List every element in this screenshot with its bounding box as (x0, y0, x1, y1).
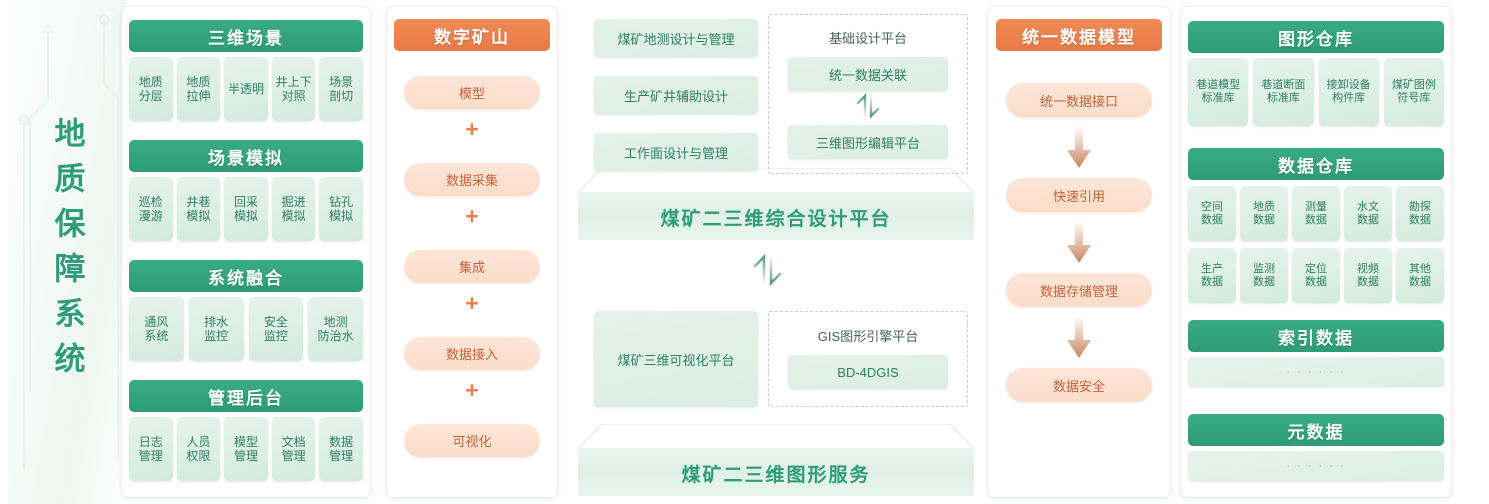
mine-item-0[interactable]: 模型 (404, 76, 540, 109)
tile-line: 巡检 (139, 195, 163, 209)
group-tiles-3: 通风 系统 排水 监控 安全 监控 地测 防治水 (129, 297, 363, 361)
tile-line: 拉伸 (186, 89, 210, 103)
group-tiles-2: 巡检 漫游 井巷 模拟 回采 模拟 掘进 模拟 钻孔 模拟 (129, 177, 363, 241)
tile-line: 视频 (1357, 263, 1379, 276)
tile[interactable]: 定位 数据 (1292, 248, 1340, 303)
tile-line: 井巷 (186, 195, 210, 209)
tile[interactable]: 地测 防治水 (308, 297, 363, 361)
tile-line: 井上下 (276, 75, 312, 89)
tile-line: 数据 (1253, 276, 1275, 289)
system-title-panel: 地质保障系统 (8, 0, 126, 504)
tile[interactable]: 文档 管理 (272, 417, 316, 481)
tile[interactable]: 水文 数据 (1344, 186, 1392, 241)
tile-line: 构件库 (1332, 92, 1365, 105)
tile-line: 煤矿图例 (1392, 79, 1436, 92)
tile-line: 其他 (1409, 263, 1431, 276)
plus-operator: + (404, 292, 540, 315)
tile-line: 空间 (1201, 201, 1223, 214)
tile[interactable]: 井上下 对照 (272, 57, 316, 121)
tile-line: 人员 (186, 435, 210, 449)
tile-line: 监控 (204, 329, 228, 343)
gis-platform-label: GIS图形引擎平台 (768, 326, 968, 345)
model-item-0[interactable]: 统一数据接口 (1006, 83, 1152, 117)
tile[interactable]: 监测 数据 (1240, 248, 1288, 303)
system-title-text: 地质保障系统 (52, 117, 83, 387)
down-arrow-icon (1065, 126, 1093, 170)
group-tiles-1: 地质 分层 地质 拉伸 半透明 井上下 对照 场景 剖切 (129, 57, 363, 121)
tile-line: 数据 (1201, 214, 1223, 227)
tile-line: 数据 (1357, 276, 1379, 289)
mine-item-4[interactable]: 可视化 (404, 424, 540, 457)
model-item-1[interactable]: 快速引用 (1006, 178, 1152, 212)
tile[interactable]: 测量 数据 (1292, 186, 1340, 241)
tile-line: 回采 (234, 195, 258, 209)
tile-line: 数据 (1409, 276, 1431, 289)
tile-line: 监控 (264, 329, 288, 343)
tile-line: 防治水 (318, 329, 354, 343)
tile-line: 掘进 (282, 195, 306, 209)
bidirectional-arrow-icon (852, 92, 884, 120)
tile-line: 地质 (186, 75, 210, 89)
tile-line: 水文 (1357, 201, 1379, 214)
repo-header-metadata[interactable]: 元数据 (1188, 414, 1444, 446)
tile-line: 生产 (1201, 263, 1223, 276)
tile-line: 钻孔 (329, 195, 353, 209)
tile[interactable]: 数据 管理 (319, 417, 363, 481)
tile[interactable]: 接卸设备 构件库 (1319, 58, 1379, 126)
tile-line: 模拟 (234, 209, 258, 223)
tile-line: 模拟 (186, 209, 210, 223)
tile[interactable]: 回采 模拟 (224, 177, 268, 241)
bidirectional-arrow-icon (748, 252, 788, 288)
band-integrated-design-platform[interactable]: 煤矿二三维综合设计平台 (578, 194, 974, 240)
app-box-0[interactable]: 煤矿地测设计与管理 (594, 19, 758, 57)
digital-mine-header[interactable]: 数字矿山 (394, 19, 550, 51)
mine-item-1[interactable]: 数据采集 (404, 163, 540, 196)
tile-line: 勘探 (1409, 201, 1431, 214)
group-header-4[interactable]: 管理后台 (129, 380, 363, 412)
group-header-3[interactable]: 系统融合 (129, 260, 363, 292)
tile-line: 数据 (1305, 276, 1327, 289)
tile-line: 符号库 (1397, 92, 1430, 105)
tile-line: 半透明 (228, 82, 264, 96)
tile-line: 管理 (282, 449, 306, 463)
plus-operator: + (404, 118, 540, 141)
repo-tiles-graphics: 巷道模型 标准库 巷道断面 标准库 接卸设备 构件库 煤矿图例 符号库 (1188, 58, 1444, 126)
tile-line: 场景 (329, 75, 353, 89)
tile[interactable]: 场景 剖切 (319, 57, 363, 121)
tile-line: 数据 (1253, 214, 1275, 227)
tile[interactable]: 生产 数据 (1188, 248, 1236, 303)
tile-line: 分层 (139, 89, 163, 103)
base-platform-item-1[interactable]: 三维图形编辑平台 (788, 125, 948, 159)
down-arrow-icon (1065, 221, 1093, 265)
tile-line: 模型 (234, 435, 258, 449)
tile[interactable]: 其他 数据 (1396, 248, 1444, 303)
plus-operator: + (404, 379, 540, 402)
tile[interactable]: 安全 监控 (249, 297, 304, 361)
architecture-diagram: 地质保障系统 三维场景 地质 分层 地质 拉伸 半透明 井上下 对照 场景 剖切… (0, 0, 1489, 504)
tile[interactable]: 排水 监控 (189, 297, 244, 361)
tile-line: 管理 (234, 449, 258, 463)
gis-engine-item[interactable]: BD-4DGIS (788, 355, 948, 389)
band-graphics-service[interactable]: 煤矿二三维图形服务 (578, 450, 974, 496)
tile[interactable]: 巡检 漫游 (129, 177, 173, 241)
tile-line: 漫游 (139, 209, 163, 223)
tile-line: 地测 (324, 315, 348, 329)
tile-line: 巷道断面 (1261, 79, 1305, 92)
base-platform-label: 基础设计平台 (768, 28, 968, 47)
plus-operator: + (404, 205, 540, 228)
app-box-2[interactable]: 工作面设计与管理 (594, 133, 758, 171)
tile[interactable]: 人员 权限 (177, 417, 221, 481)
tile-line: 文档 (282, 435, 306, 449)
tile[interactable]: 空间 数据 (1188, 186, 1236, 241)
group-header-2[interactable]: 场景模拟 (129, 140, 363, 172)
mine-item-2[interactable]: 集成 (404, 250, 540, 283)
tile[interactable]: 钻孔 模拟 (319, 177, 363, 241)
tile-line: 监测 (1253, 263, 1275, 276)
tile-line: 测量 (1305, 201, 1327, 214)
tile[interactable]: 视频 数据 (1344, 248, 1392, 303)
repo-header-index[interactable]: 索引数据 (1188, 320, 1444, 352)
tile-line: 定位 (1305, 263, 1327, 276)
tile-line: 日志 (139, 435, 163, 449)
mine-item-3[interactable]: 数据接入 (404, 337, 540, 370)
tile[interactable]: 地质 数据 (1240, 186, 1288, 241)
tile[interactable]: 日志 管理 (129, 417, 173, 481)
tile-line: 安全 (264, 315, 288, 329)
tile[interactable]: 地质 分层 (129, 57, 173, 121)
tile[interactable]: 井巷 模拟 (177, 177, 221, 241)
tile[interactable]: 巷道模型 标准库 (1188, 58, 1248, 126)
tile-line: 地质 (139, 75, 163, 89)
tile[interactable]: 煤矿图例 符号库 (1384, 58, 1444, 126)
repo-dots-index[interactable]: · · · · · · (1188, 357, 1444, 387)
tile[interactable]: 通风 系统 (129, 297, 184, 361)
trapezoid-bottom-outline (578, 424, 974, 450)
visualization-platform-box[interactable]: 煤矿三维可视化平台 (594, 311, 758, 407)
app-box-1[interactable]: 生产矿井辅助设计 (594, 76, 758, 114)
tile-line: 对照 (282, 89, 306, 103)
tile-line: 管理 (139, 449, 163, 463)
base-platform-item-0[interactable]: 统一数据关联 (788, 57, 948, 91)
tile-line: 通风 (144, 315, 168, 329)
tile-line: 标准库 (1267, 92, 1300, 105)
tile-line: 排水 (204, 315, 228, 329)
tile-line: 管理 (329, 449, 353, 463)
model-item-3[interactable]: 数据安全 (1006, 368, 1152, 402)
tile-line: 模拟 (282, 209, 306, 223)
repo-header-data[interactable]: 数据仓库 (1188, 148, 1444, 180)
tile-line: 数据 (1201, 276, 1223, 289)
model-item-2[interactable]: 数据存储管理 (1006, 273, 1152, 307)
tile-line: 数据 (1409, 214, 1431, 227)
tile[interactable]: 勘探 数据 (1396, 186, 1444, 241)
group-tiles-4: 日志 管理 人员 权限 模型 管理 文档 管理 数据 管理 (129, 417, 363, 481)
tile-line: 数据 (1305, 214, 1327, 227)
unified-model-header[interactable]: 统一数据模型 (996, 19, 1162, 51)
tile-line: 巷道模型 (1196, 79, 1240, 92)
tile-line: 模拟 (329, 209, 353, 223)
repo-dots-metadata[interactable]: · · · · · · (1188, 451, 1444, 481)
tile-line: 标准库 (1202, 92, 1235, 105)
repo-header-graphics[interactable]: 图形仓库 (1188, 21, 1444, 53)
tile-line: 权限 (186, 449, 210, 463)
tile[interactable]: 巷道断面 标准库 (1253, 58, 1313, 126)
tile-line: 数据 (329, 435, 353, 449)
repo-tiles-data-row1: 空间 数据 地质 数据 测量 数据 水文 数据 勘探 数据 (1188, 186, 1444, 241)
tile-line: 剖切 (329, 89, 353, 103)
tile[interactable]: 模型 管理 (224, 417, 268, 481)
tile-line: 系统 (144, 329, 168, 343)
tile[interactable]: 地质 拉伸 (177, 57, 221, 121)
down-arrow-icon (1065, 316, 1093, 360)
tile-line: 接卸设备 (1327, 79, 1371, 92)
tile-line: 地质 (1253, 201, 1275, 214)
group-header-1[interactable]: 三维场景 (129, 20, 363, 52)
tile[interactable]: 掘进 模拟 (272, 177, 316, 241)
tile-line: 数据 (1357, 214, 1379, 227)
repo-tiles-data-row2: 生产 数据 监测 数据 定位 数据 视频 数据 其他 数据 (1188, 248, 1444, 303)
tile[interactable]: 半透明 (224, 57, 268, 121)
